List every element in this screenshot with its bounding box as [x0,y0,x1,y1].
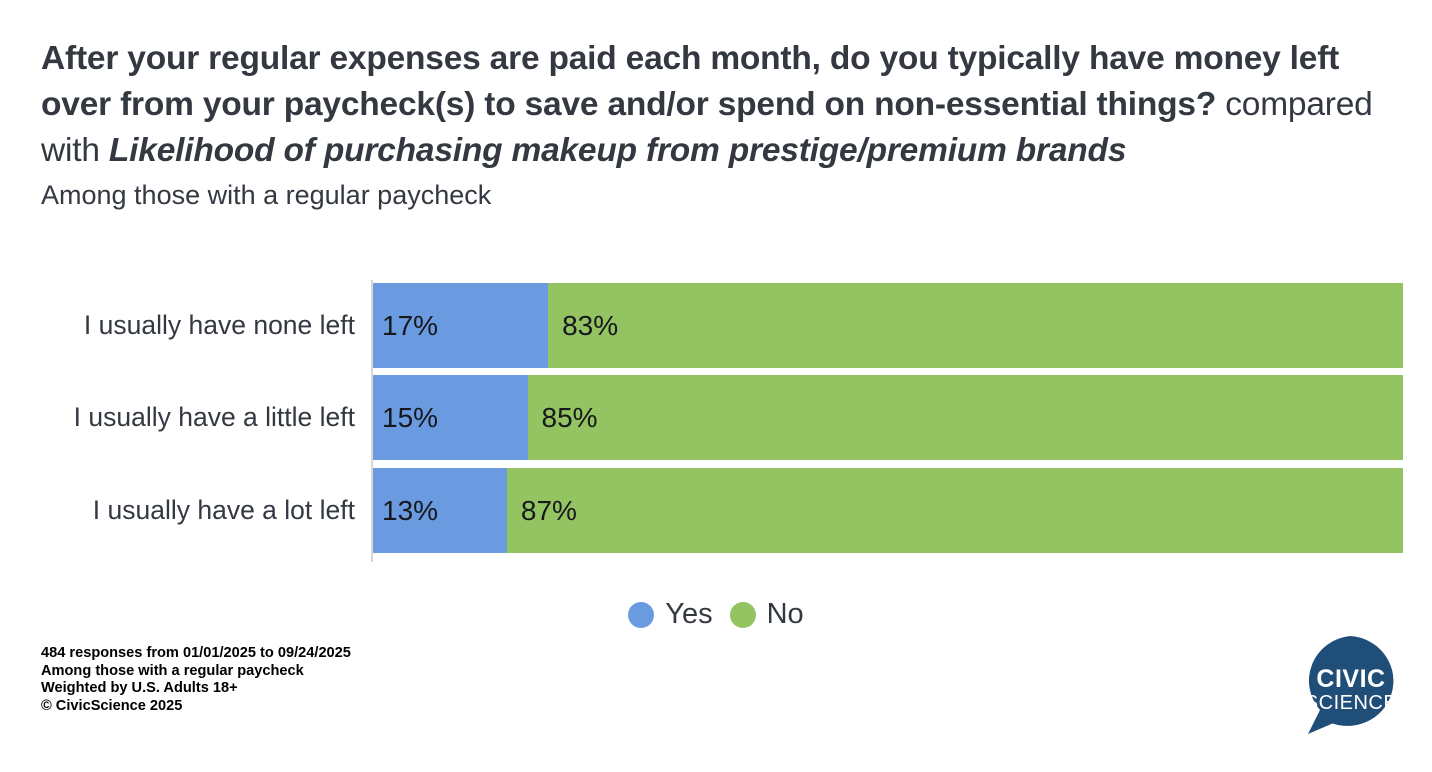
footer-note: 484 responses from 01/01/2025 to 09/24/2… [41,645,351,715]
stacked-bar: 15% 85% [373,375,1403,460]
bar-value-yes: 17% [382,310,438,342]
legend-label-no: No [767,598,804,631]
bar-value-no: 87% [521,495,577,527]
footer-weighting: Weighted by U.S. Adults 18+ [41,680,351,698]
bar-value-yes: 15% [382,402,438,434]
bar-value-no: 85% [542,402,598,434]
table-row: I usually have none left 17% 83% [0,283,1432,368]
table-row: I usually have a little left 15% 85% [0,375,1432,460]
bar-value-yes: 13% [382,495,438,527]
logo-text-civic: CIVIC [1316,665,1385,693]
title-crosstab-bold-italic: Likelihood of purchasing makeup from pre… [109,132,1126,169]
page-title: After your regular expenses are paid eac… [41,36,1401,174]
legend-dot-icon [628,602,654,628]
bar-segment-no[interactable]: 85% [528,375,1404,460]
speech-bubble-icon: CIVIC SCIENCE [1296,634,1404,738]
bar-segment-yes[interactable]: 15% [373,375,528,460]
logo-text-science: SCIENCE [1305,692,1397,714]
footer-responses: 484 responses from 01/01/2025 to 09/24/2… [41,645,351,663]
bar-segment-yes[interactable]: 13% [373,468,507,553]
legend-item-yes[interactable]: Yes [628,598,712,631]
stacked-bar: 13% 87% [373,468,1403,553]
legend-item-no[interactable]: No [730,598,804,631]
civicscience-logo: CIVIC SCIENCE [1296,634,1404,738]
chart-subtitle: Among those with a regular paycheck [41,178,1401,212]
bar-segment-yes[interactable]: 17% [373,283,548,368]
bar-segment-no[interactable]: 83% [548,283,1403,368]
category-label: I usually have a little left [0,375,355,460]
table-row: I usually have a lot left 13% 87% [0,468,1432,553]
chart-plot-area: I usually have none left 17% 83% I usual… [0,275,1432,565]
title-question-bold: After your regular expenses are paid eac… [41,40,1339,123]
footer-audience: Among those with a regular paycheck [41,663,351,681]
title-block: After your regular expenses are paid eac… [41,36,1401,212]
stacked-bar: 17% 83% [373,283,1403,368]
legend-label-yes: Yes [665,598,712,631]
chart-legend: Yes No [0,598,1432,631]
category-label: I usually have none left [0,283,355,368]
legend-dot-icon [730,602,756,628]
category-label: I usually have a lot left [0,468,355,553]
footer-copyright: © CivicScience 2025 [41,698,351,716]
bar-value-no: 83% [562,310,618,342]
bar-segment-no[interactable]: 87% [507,468,1403,553]
